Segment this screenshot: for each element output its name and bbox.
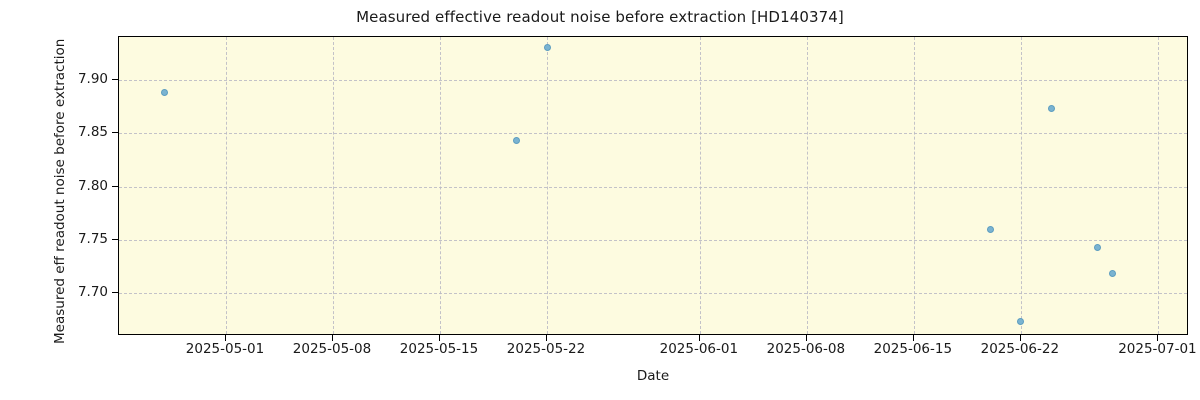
- gridline-vertical: [440, 37, 441, 334]
- gridline-horizontal: [119, 187, 1187, 188]
- data-point: [544, 44, 551, 51]
- y-tick-label: 7.80: [78, 178, 108, 194]
- x-tick-label: 2025-07-01: [1118, 341, 1196, 357]
- gridline-horizontal: [119, 240, 1187, 241]
- data-point: [1048, 105, 1055, 112]
- y-tick-mark: [112, 186, 118, 187]
- gridline-vertical: [547, 37, 548, 334]
- y-tick-label: 7.85: [78, 124, 108, 140]
- x-tick-label: 2025-05-22: [507, 341, 585, 357]
- y-tick-label: 7.90: [78, 71, 108, 87]
- y-tick-label: 7.75: [78, 231, 108, 247]
- figure: Measured effective readout noise before …: [0, 0, 1200, 400]
- y-tick-label: 7.70: [78, 284, 108, 300]
- y-axis-tick-labels: 7.707.757.807.857.90: [0, 0, 108, 400]
- gridline-vertical: [1158, 37, 1159, 334]
- x-tick-label: 2025-05-15: [400, 341, 478, 357]
- x-tick-label: 2025-06-22: [981, 341, 1059, 357]
- x-tick-label: 2025-05-01: [186, 341, 264, 357]
- chart-title: Measured effective readout noise before …: [0, 8, 1200, 26]
- y-tick-mark: [112, 132, 118, 133]
- data-point: [1094, 244, 1101, 251]
- y-tick-mark: [112, 239, 118, 240]
- data-point: [161, 89, 168, 96]
- x-tick-label: 2025-05-08: [293, 341, 371, 357]
- x-tick-label: 2025-06-08: [767, 341, 845, 357]
- data-point: [987, 226, 994, 233]
- gridline-vertical: [333, 37, 334, 334]
- gridline-vertical: [226, 37, 227, 334]
- gridline-horizontal: [119, 293, 1187, 294]
- y-tick-mark: [112, 292, 118, 293]
- x-axis-label: Date: [118, 368, 1188, 384]
- gridline-horizontal: [119, 133, 1187, 134]
- gridline-vertical: [914, 37, 915, 334]
- data-point: [1017, 318, 1024, 325]
- data-point: [513, 137, 520, 144]
- gridline-vertical: [1021, 37, 1022, 334]
- y-tick-mark: [112, 79, 118, 80]
- gridline-vertical: [700, 37, 701, 334]
- gridline-vertical: [807, 37, 808, 334]
- x-tick-label: 2025-06-15: [874, 341, 952, 357]
- x-tick-label: 2025-06-01: [660, 341, 738, 357]
- plot-area: [118, 36, 1188, 335]
- data-point: [1109, 270, 1116, 277]
- gridline-horizontal: [119, 80, 1187, 81]
